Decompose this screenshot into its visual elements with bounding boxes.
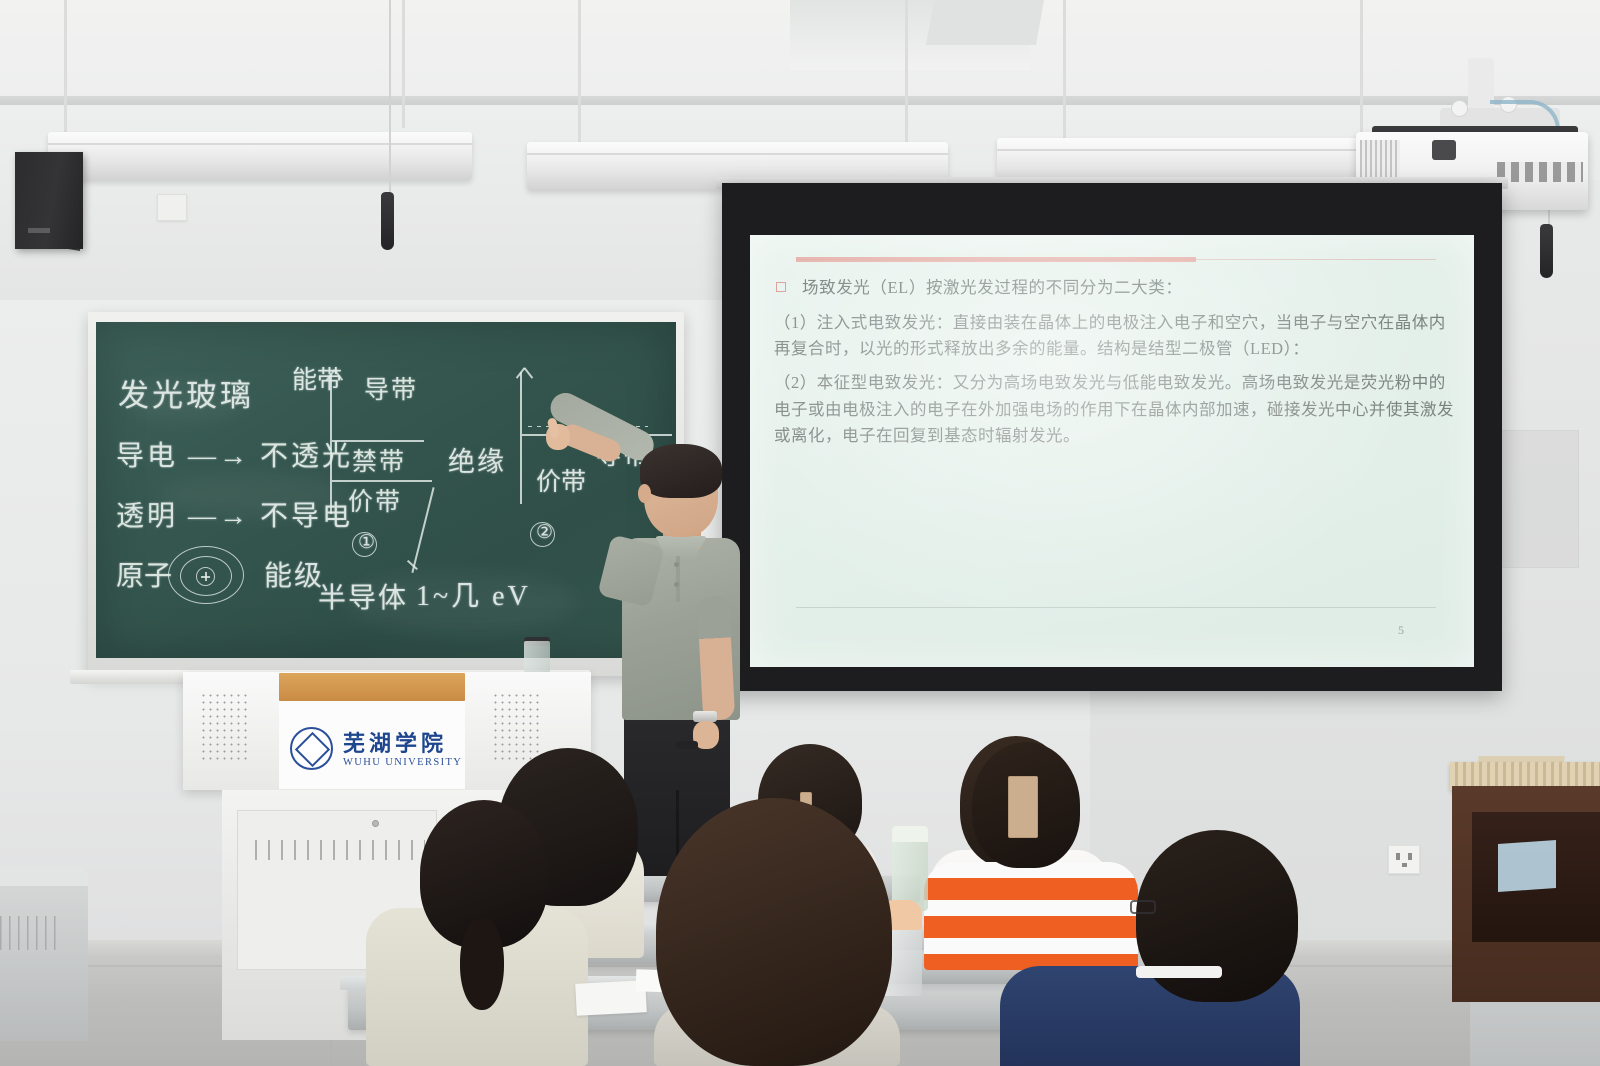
nucleus-plus-v [205, 572, 207, 581]
slide-footer-divider [796, 607, 1436, 608]
light-rod [1360, 0, 1363, 136]
podium-wood-trim [279, 673, 465, 701]
slide-bullet-row: 场致发光（EL）按激光发过程的不同分为二大类： [772, 275, 1458, 301]
wall-switch-plate[interactable] [157, 194, 187, 221]
chalk-label-conduction-1: 导带 [364, 370, 418, 406]
shirt-button [674, 562, 679, 567]
desk-wire-basket [0, 916, 56, 950]
student-glasses-icon [1130, 900, 1156, 914]
light-rod [402, 0, 405, 128]
chalk-label-valence-2: 价带 [536, 462, 586, 498]
student-front-center-hair [656, 798, 892, 1066]
chalk-note-semiconductor: 半导体 [318, 576, 408, 616]
mic-cable-left [389, 0, 391, 196]
projector-lens [1432, 140, 1456, 160]
slide-surface: 场致发光（EL）按激光发过程的不同分为二大类： （1）注入式电致发光：直接由装在… [750, 235, 1474, 667]
ceiling-beam [926, 0, 1044, 45]
desk-far-left [0, 866, 88, 1041]
light-rod [64, 0, 67, 140]
hanging-mic-left [381, 192, 394, 250]
projector-port-panel [1497, 162, 1583, 182]
chalk-note-atom: 原子 [116, 554, 172, 594]
chalk-label-forbidden-1: 禁带 [352, 442, 406, 478]
podium-vent-slots [255, 840, 425, 860]
teacher-ear [638, 484, 651, 503]
chalk-note-insulator: 绝缘 [448, 440, 506, 479]
chalk-note-bandgap-value: 1~几 eV [416, 574, 531, 614]
square-bullet-icon [776, 282, 786, 292]
student-striped-hairclip [1008, 776, 1038, 838]
slide-accent-bar [796, 257, 1196, 262]
slide-page-number: 5 [1398, 623, 1404, 638]
podium-speaker-grille-right [492, 692, 542, 764]
chalk-marker-two: ② [536, 521, 553, 544]
student-glasses-right-collar [1136, 966, 1222, 978]
cabinet-blue-paper [1498, 840, 1556, 892]
desk-far-left-surface [0, 866, 88, 886]
slide-bullet-heading: 场致发光（EL）按激光发过程的不同分为二大类： [802, 275, 1182, 301]
light-rod [578, 0, 581, 152]
diagram2-arrow-r [524, 367, 533, 378]
diagram-connector-arrow [411, 487, 434, 573]
university-name-cn: 芜湖学院 [343, 726, 447, 758]
wall-speaker [15, 152, 83, 249]
university-logo-icon [290, 727, 333, 770]
presenter-remote [676, 741, 698, 749]
chalk-note-energy-level: 能级 [264, 554, 324, 594]
student-striped-body [924, 862, 1138, 970]
podium-speaker-grille-left [200, 692, 250, 764]
blackboard-frame: 发光玻璃 导电 —→ 不透光 透明 —→ 不导电 原子 能级 能带 导带 禁带 … [88, 312, 684, 676]
slide-paragraph-2: （2）本征型电致发光：又分为高场电致发光与低能电致发光。高场电致发光是荧光粉中的… [774, 370, 1458, 450]
logo-inner-mark [295, 732, 330, 767]
blackboard-surface: 发光玻璃 导电 —→ 不透光 透明 —→ 不导电 原子 能级 能带 导带 禁带 … [96, 322, 676, 658]
projection-screen: 场致发光（EL）按激光发过程的不同分为二大类： （1）注入式电致发光：直接由装在… [722, 183, 1502, 691]
university-name-en: WUHU UNIVERSITY [343, 757, 462, 768]
teacher-lowered-arm [697, 595, 735, 721]
outlet-slot [1402, 863, 1407, 867]
student-front-left-ponytail [460, 918, 504, 1010]
slide-text-body: 场致发光（EL）按激光发过程的不同分为二大类： （1）注入式电致发光：直接由装在… [772, 275, 1458, 605]
podium-lock-icon[interactable] [372, 820, 379, 827]
light-rod [1063, 0, 1066, 142]
chalk-note-conductive: 导电 —→ 不透光 [116, 434, 353, 474]
chalk-label-band: 能带 [292, 360, 342, 396]
shirt-button [674, 582, 679, 587]
chalk-marker-one: ① [358, 531, 375, 554]
chalk-note-transparent: 透明 —→ 不导电 [116, 494, 353, 534]
classroom-photo: 场致发光（EL）按激光发过程的不同分为二大类： （1）注入式电致发光：直接由装在… [0, 0, 1600, 1066]
hanging-mic-right [1540, 224, 1553, 278]
teacher-hair [640, 444, 722, 498]
light-rod [905, 0, 908, 146]
speaker-badge [28, 228, 50, 233]
outlet-slot [1396, 853, 1400, 860]
slide-paragraph-1: （1）注入式电致发光：直接由装在晶体上的电极注入电子和空穴，当电子与空穴在晶体内… [774, 310, 1458, 363]
green-lid-bottle-cap [892, 826, 928, 842]
chalk-label-valence-1: 价带 [348, 482, 402, 518]
chalk-note-luminous-glass: 发光玻璃 [118, 370, 254, 415]
suspended-light-1 [48, 132, 472, 180]
projector-adjust-knob [1451, 100, 1468, 117]
diagram1-axis [330, 374, 332, 514]
diagram2-axis [520, 372, 522, 504]
slide-accent-rule [796, 257, 1436, 262]
wall-power-outlet[interactable] [1388, 845, 1420, 874]
outlet-slot [1408, 853, 1412, 860]
